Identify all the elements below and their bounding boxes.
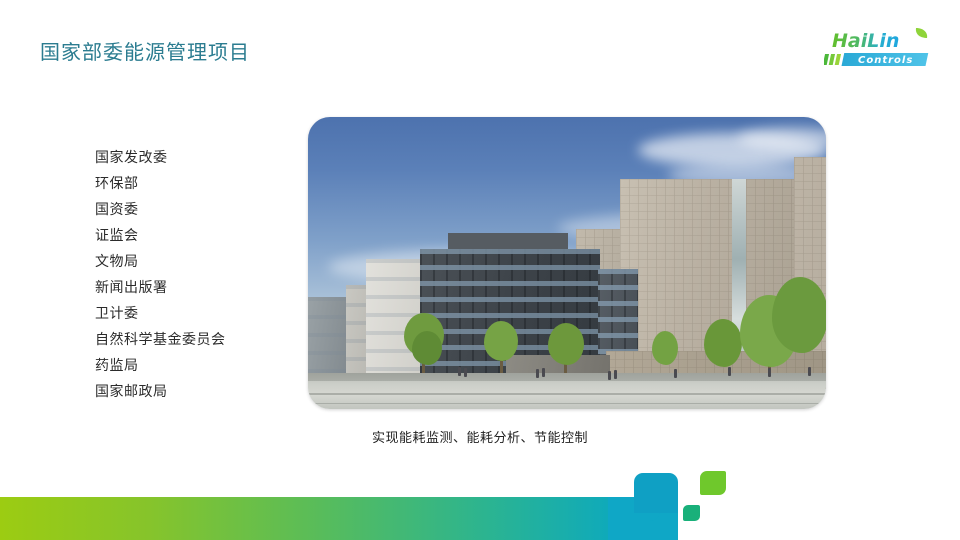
plaza-line (308, 403, 826, 404)
person (458, 367, 461, 376)
tree (412, 331, 442, 365)
photo-caption: 实现能耗监测、能耗分析、节能控制 (0, 427, 960, 446)
logo-bar (829, 54, 835, 65)
logo-bar (835, 54, 841, 65)
list-item: 国家发改委 (95, 145, 226, 171)
photo-content (308, 117, 826, 409)
list-item: 环保部 (95, 171, 226, 197)
footer-decoration (0, 465, 960, 540)
leaf-icon (916, 28, 927, 38)
logo-bar (824, 54, 829, 65)
person (768, 368, 771, 377)
logo-wordmark: HaiLin (832, 30, 899, 52)
list-item: 证监会 (95, 223, 226, 249)
plaza-shadow (308, 373, 826, 381)
tree (652, 331, 678, 365)
footer-green-square-large (700, 471, 726, 495)
logo-tagline: Controls (858, 55, 913, 66)
page-title: 国家部委能源管理项目 (40, 40, 250, 64)
person (464, 368, 467, 377)
slide-canvas: 国家部委能源管理项目 HaiLin (0, 0, 960, 540)
person (542, 368, 545, 377)
list-item: 新闻出版署 (95, 275, 226, 301)
tree (548, 323, 584, 365)
tree (772, 277, 826, 353)
person (674, 369, 677, 378)
list-item: 自然科学基金委员会 (95, 327, 226, 353)
hailin-logo: HaiLin Controls (824, 26, 942, 72)
person (536, 369, 539, 378)
person (808, 367, 811, 376)
plaza-line (308, 393, 826, 395)
list-item: 药监局 (95, 353, 226, 379)
person (728, 367, 731, 376)
footer-cyan-tab (634, 473, 678, 513)
list-item: 国资委 (95, 197, 226, 223)
person (608, 371, 611, 380)
tree (704, 319, 742, 367)
person (614, 370, 617, 379)
tree (484, 321, 518, 361)
list-item: 文物局 (95, 249, 226, 275)
project-photo (308, 117, 826, 409)
department-list: 国家发改委 环保部 国资委 证监会 文物局 新闻出版署 卫计委 自然科学基金委员… (95, 145, 226, 405)
footer-gradient-bar (0, 497, 678, 540)
list-item: 国家邮政局 (95, 379, 226, 405)
list-item: 卫计委 (95, 301, 226, 327)
footer-green-square-small (683, 505, 700, 521)
